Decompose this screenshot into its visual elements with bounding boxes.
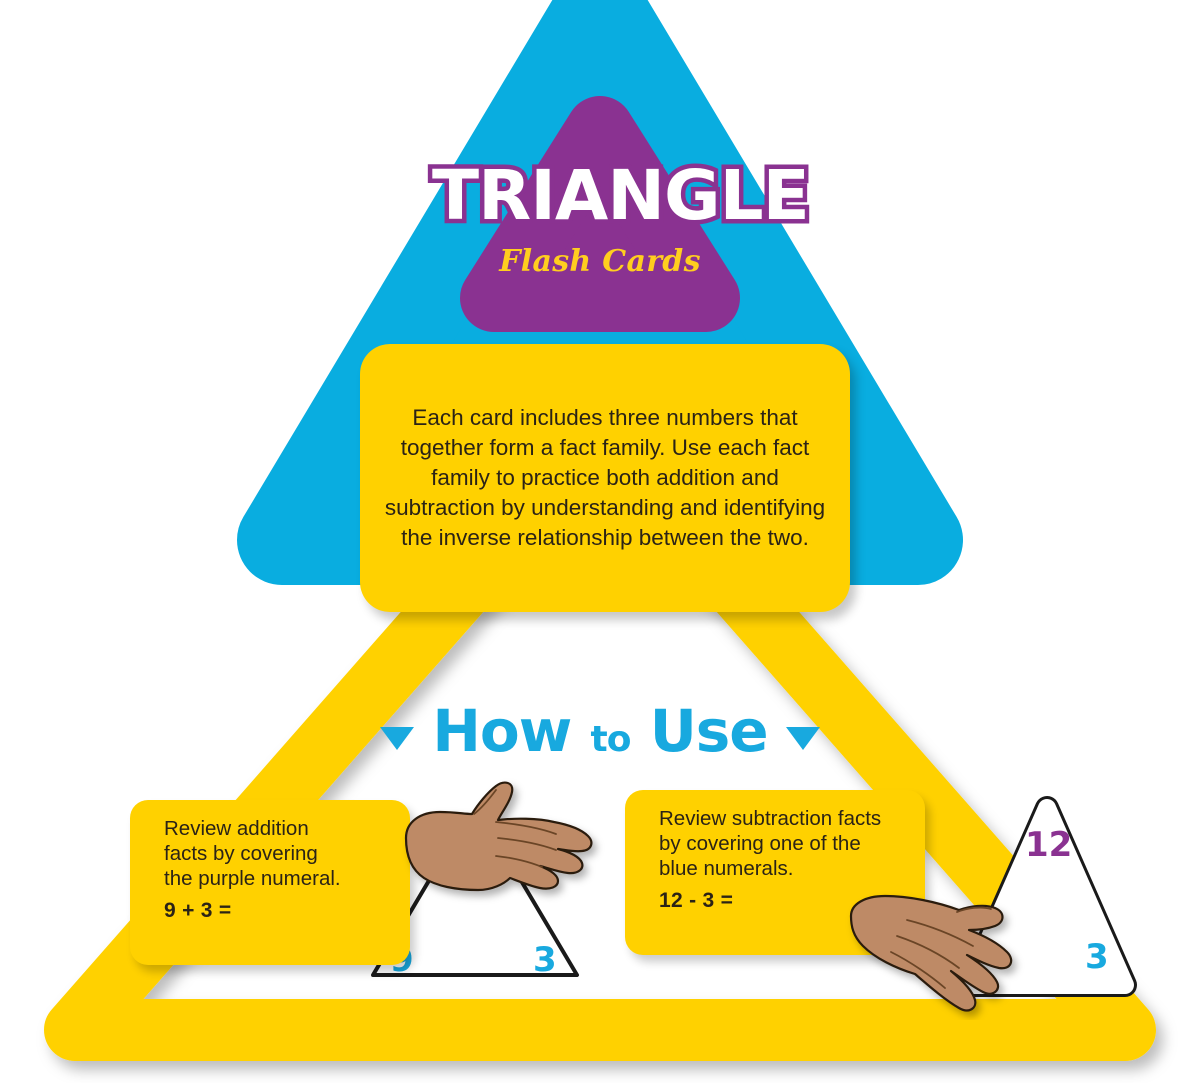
mini-card-right-number-top: 12: [1025, 828, 1072, 862]
mini-card-right-number-right: 3: [1085, 940, 1109, 974]
step-left-line-3: the purple numeral.: [164, 866, 392, 891]
step-left-line-1: Review addition: [164, 816, 392, 841]
triangle-bullet-left-icon: [380, 727, 414, 750]
step-left-line-2: facts by covering: [164, 841, 392, 866]
flash-card-poster: TRIANGLE Flash Cards Each card includes …: [0, 0, 1200, 1083]
how-to-use-label: How to Use: [432, 701, 767, 770]
intro-description-card: Each card includes three numbers that to…: [360, 344, 850, 612]
step-right-line-2: by covering one of the: [659, 831, 907, 856]
step-right-line-1: Review subtraction facts: [659, 806, 907, 831]
howto-word-to: to: [591, 719, 631, 760]
step-left-body: Review addition facts by covering the pu…: [130, 800, 410, 923]
step-card-addition: Review addition facts by covering the pu…: [130, 800, 410, 965]
howto-word-use: Use: [650, 697, 768, 765]
how-to-use-heading: How to Use: [330, 695, 870, 775]
hand-covering-blue-numeral-icon: [845, 880, 1075, 1020]
howto-word-how: How: [432, 697, 571, 765]
triangle-bullet-right-icon: [786, 727, 820, 750]
hand-covering-purple-numeral-icon: [398, 778, 608, 918]
intro-description-text: Each card includes three numbers that to…: [360, 403, 850, 553]
step-left-equation: 9 + 3 =: [164, 898, 392, 923]
mini-card-left-number-right: 3: [533, 943, 557, 977]
step-right-line-3: blue numerals.: [659, 856, 907, 881]
